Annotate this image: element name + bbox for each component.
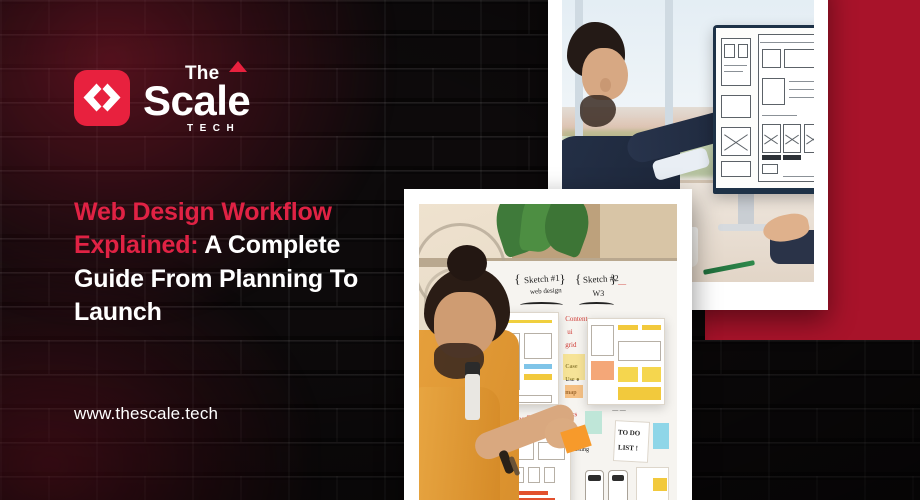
page-title: Web Design Workflow Explained: A Complet… — [74, 196, 404, 329]
blog-banner: The Scale TECH Web Design Workflow Expla… — [0, 0, 920, 500]
logo-tech-text: TECH — [187, 124, 250, 134]
scale-diamond-logo-icon — [74, 70, 130, 126]
wall-cabinet — [600, 204, 677, 261]
whiteboard-marker — [465, 374, 480, 420]
brand-logo[interactable]: The Scale TECH — [74, 62, 250, 134]
photo-frame: Sketch #1 web design { } Sketch #2 W3 { … — [419, 204, 677, 500]
brand-wordmark: The Scale TECH — [143, 62, 250, 134]
person-ear — [600, 78, 611, 92]
phone-status-bar — [612, 475, 625, 481]
photo-card-whiteboard-ux-sketching: Sketch #1 web design { } Sketch #2 W3 { … — [404, 189, 692, 500]
person-face — [582, 48, 628, 100]
monitor-screen — [716, 28, 814, 188]
chevron-up-accent-icon — [229, 61, 247, 72]
photo-whiteboard-ux-sketching: Sketch #1 web design { } Sketch #2 W3 { … — [419, 204, 677, 500]
logo-scale-text: Scale — [143, 80, 250, 122]
phone-status-bar — [588, 475, 601, 481]
site-url[interactable]: www.thescale.tech — [74, 404, 218, 424]
desktop-monitor — [713, 25, 814, 194]
monitor-stand — [738, 191, 754, 226]
